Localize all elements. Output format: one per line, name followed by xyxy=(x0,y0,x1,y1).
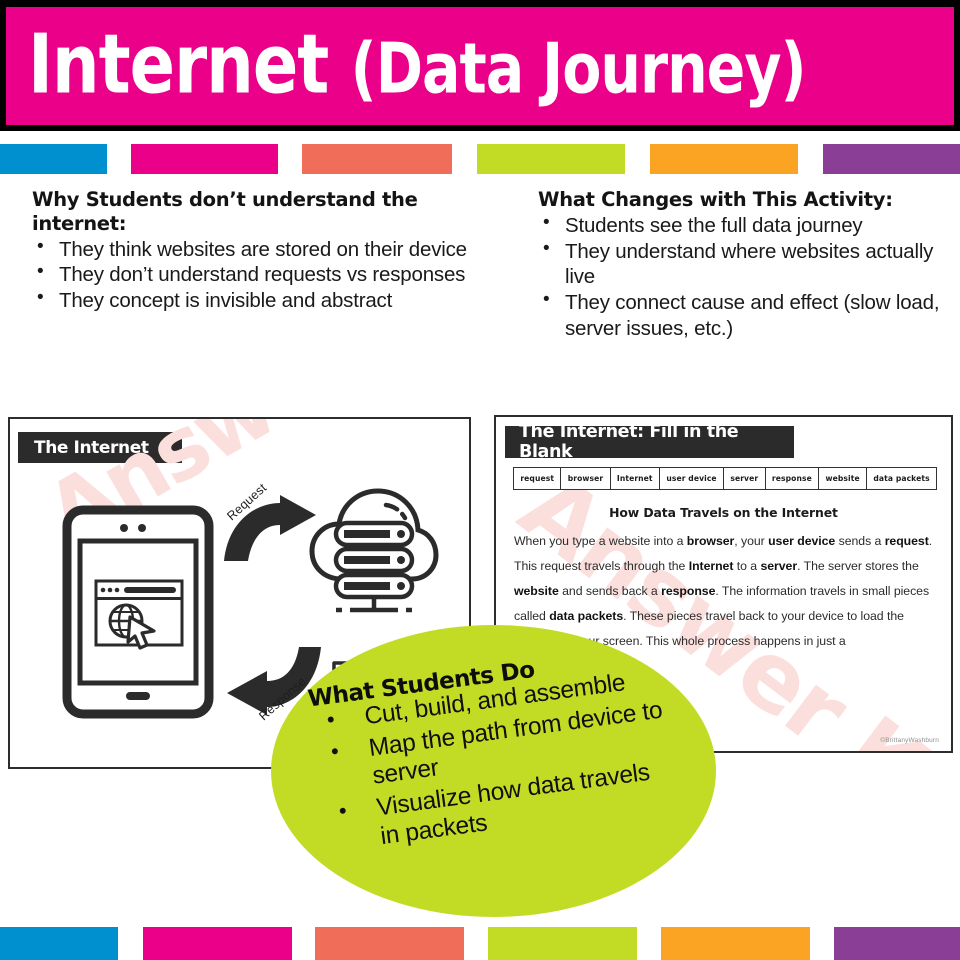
color-block-purple xyxy=(823,144,960,174)
color-block-orange xyxy=(661,927,810,960)
word-bank-cell: Internet xyxy=(611,468,660,489)
word-bank-cell: user device xyxy=(660,468,724,489)
answer-word: Internet xyxy=(689,559,734,573)
page-title: Internet (Data Journey) xyxy=(28,24,806,106)
color-block-blue xyxy=(0,927,118,960)
word-bank-cell: data packets xyxy=(867,468,936,489)
word-bank-table: requestbrowserInternetuser deviceserverr… xyxy=(513,467,937,490)
color-bar-top xyxy=(0,144,960,174)
word-bank-cell: browser xyxy=(561,468,610,489)
color-block-blue xyxy=(0,144,107,174)
paragraph-text: When you type a website into a xyxy=(514,534,687,548)
callout-content: What Students Do Cut, build, and assembl… xyxy=(254,597,733,945)
list-item: They think websites are stored on their … xyxy=(32,237,472,263)
cloud-server-icon xyxy=(306,483,440,624)
list-item: They concept is invisible and abstract xyxy=(32,288,472,314)
list-item: They understand where websites actually … xyxy=(538,239,953,290)
answer-word: request xyxy=(885,534,929,548)
why-students-section: Why Students don’t understand the intern… xyxy=(32,188,472,314)
word-bank-cell: website xyxy=(819,468,867,489)
list-item: They connect cause and effect (slow load… xyxy=(538,290,953,341)
what-changes-list: Students see the full data journey They … xyxy=(538,213,953,342)
why-students-list: They think websites are stored on their … xyxy=(32,237,472,314)
answer-word: browser xyxy=(687,534,735,548)
worksheet-title: How Data Travels on the Internet xyxy=(496,505,951,520)
word-bank-cell: request xyxy=(514,468,561,489)
color-block-purple xyxy=(834,927,960,960)
what-changes-heading: What Changes with This Activity: xyxy=(538,188,953,212)
word-bank-cell: response xyxy=(766,468,820,489)
color-block-orange xyxy=(650,144,798,174)
color-block-lime xyxy=(477,144,625,174)
answer-word: response xyxy=(661,584,715,598)
word-bank-cell: server xyxy=(724,468,766,489)
title-banner: Internet (Data Journey) xyxy=(0,0,960,131)
title-banner-inner: Internet (Data Journey) xyxy=(6,7,954,125)
list-item: They don’t understand requests vs respon… xyxy=(32,262,472,288)
color-block-pink xyxy=(131,144,278,174)
color-block-pink xyxy=(143,927,292,960)
what-students-do-callout: What Students Do Cut, build, and assembl… xyxy=(271,625,716,917)
copyright-notice: ©BrittanyWashburn xyxy=(880,737,939,744)
why-students-heading: Why Students don’t understand the intern… xyxy=(32,188,472,236)
tablet-icon xyxy=(62,505,214,724)
answer-word: website xyxy=(514,584,559,598)
paragraph-text: and sends back a xyxy=(559,584,661,598)
paragraph-text: sends a xyxy=(835,534,884,548)
paragraph-text: . The server stores the xyxy=(797,559,919,573)
answer-word: user device xyxy=(768,534,835,548)
paragraph-text: , your xyxy=(734,534,768,548)
poster-page: Internet (Data Journey) Why Students don… xyxy=(0,0,960,960)
worksheet-panel-header: The Internet: Fill in the Blank xyxy=(505,426,794,458)
color-bar-bottom xyxy=(0,927,960,960)
list-item: Students see the full data journey xyxy=(538,213,953,239)
page-title-paren: (Data Journey) xyxy=(351,29,806,110)
color-block-coral xyxy=(302,144,452,174)
diagram-panel-header: The Internet xyxy=(18,432,182,463)
page-title-main: Internet xyxy=(28,17,351,112)
answer-word: server xyxy=(760,559,797,573)
paragraph-text: to a xyxy=(733,559,760,573)
what-changes-section: What Changes with This Activity: Student… xyxy=(538,188,953,341)
color-block-lime xyxy=(488,927,637,960)
